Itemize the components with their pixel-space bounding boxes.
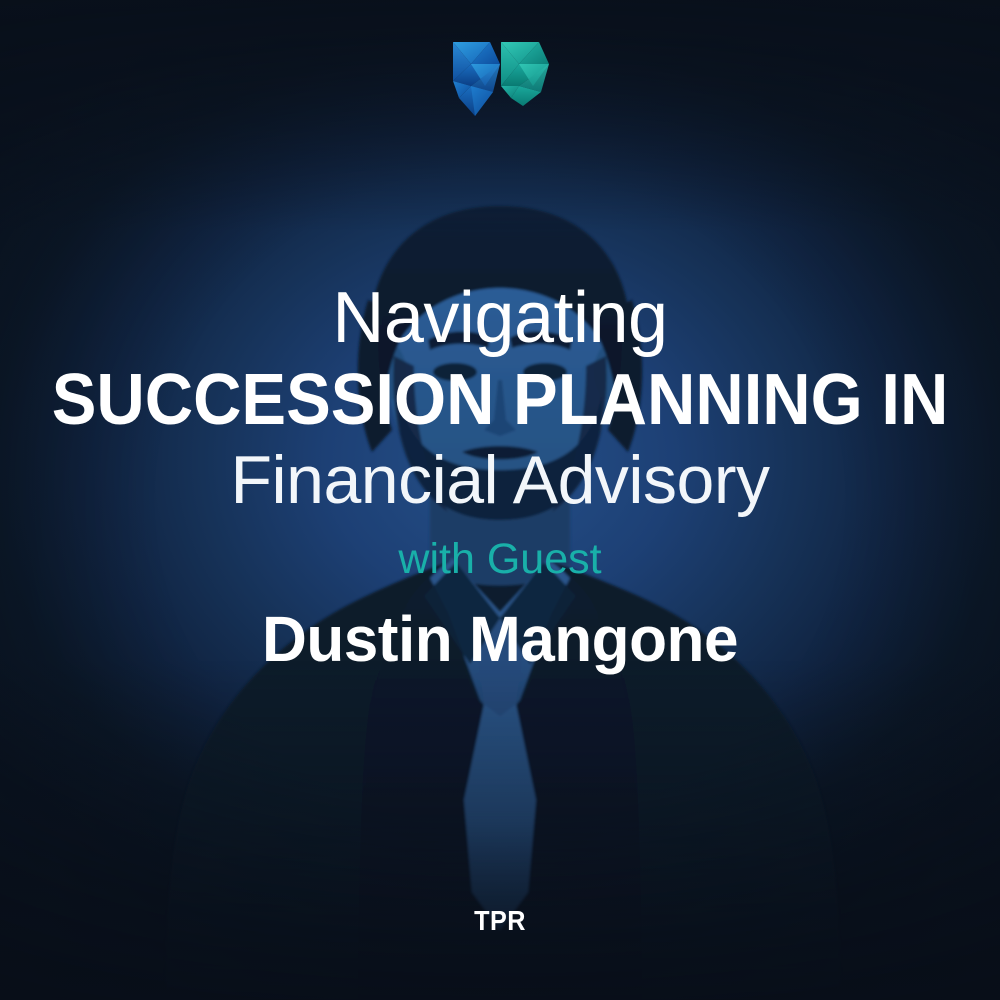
guest-name: Dustin Mangone bbox=[15, 607, 985, 671]
title-line-navigating: Navigating bbox=[0, 282, 1000, 354]
logo-right-chevron bbox=[501, 42, 549, 106]
double-chevron-logo-icon[interactable] bbox=[445, 36, 555, 122]
title-line-main: SUCCESSION PLANNING IN bbox=[35, 362, 965, 438]
podcast-cover-canvas: Navigating SUCCESSION PLANNING IN Financ… bbox=[0, 0, 1000, 1000]
brand-wordmark: TPR bbox=[50, 905, 950, 937]
title-line-sub: Financial Advisory bbox=[0, 446, 1000, 515]
guest-label: with Guest bbox=[0, 538, 1000, 581]
title-block: Navigating SUCCESSION PLANNING IN Financ… bbox=[0, 282, 1000, 671]
background-bottom-fade bbox=[0, 660, 1000, 1000]
logo-left-chevron bbox=[453, 42, 500, 116]
